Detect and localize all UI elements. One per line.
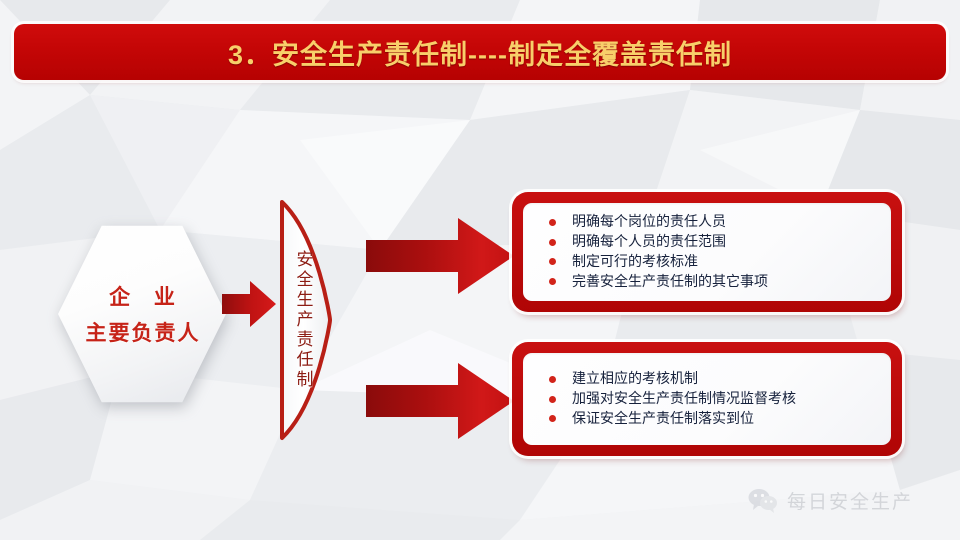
list-item-label: 保证安全生产责任制落实到位 <box>572 409 754 429</box>
list-item: 明确每个人员的责任范围 <box>549 232 881 252</box>
list-item-label: 明确每个岗位的责任人员 <box>572 212 726 232</box>
arrow-right-icon-top <box>366 216 514 296</box>
bullet-dot-icon <box>549 396 556 403</box>
list-item-label: 加强对安全生产责任制情况监督考核 <box>572 389 796 409</box>
lens-label: 安全生产责任制 <box>295 250 312 390</box>
bullet-dot-icon <box>549 278 556 285</box>
bullet-dot-icon <box>549 219 556 226</box>
list-item: 加强对安全生产责任制情况监督考核 <box>549 389 881 409</box>
wechat-icon <box>748 488 778 513</box>
list-item: 保证安全生产责任制落实到位 <box>549 409 881 429</box>
hexagon-label-line1: 企 业 <box>100 281 184 311</box>
bullet-dot-icon <box>549 376 556 383</box>
arrow-right-icon-small <box>222 279 276 329</box>
hexagon-label-group: 企 业 主要负责人 <box>58 224 226 404</box>
list-item: 明确每个岗位的责任人员 <box>549 212 881 232</box>
lens-label-wrapper: 安全生产责任制 <box>274 198 332 442</box>
list-item: 建立相应的考核机制 <box>549 369 881 389</box>
bullet-dot-icon <box>549 258 556 265</box>
hexagon-label-line2: 主要负责人 <box>84 317 201 347</box>
list-item-label: 建立相应的考核机制 <box>572 369 698 389</box>
panel-inner-top: 明确每个岗位的责任人员 明确每个人员的责任范围 制定可行的考核标准 完善安全生产… <box>523 203 891 301</box>
slide-title-bar: 3．安全生产责任制----制定全覆盖责任制 <box>14 24 946 80</box>
list-item-label: 完善安全生产责任制的其它事项 <box>572 272 768 292</box>
bullet-dot-icon <box>549 239 556 246</box>
arrow-right-icon-bottom <box>366 361 514 441</box>
list-item-label: 制定可行的考核标准 <box>572 252 698 272</box>
panel-responsibility-definition: 明确每个岗位的责任人员 明确每个人员的责任范围 制定可行的考核标准 完善安全生产… <box>512 192 902 312</box>
hexagon-node-company-leader: 企 业 主要负责人 <box>58 224 226 404</box>
watermark: 每日安全生产 <box>748 487 913 514</box>
slide-canvas: 3．安全生产责任制----制定全覆盖责任制 企 业 主要负责人 <box>0 0 960 540</box>
panel-responsibility-assessment: 建立相应的考核机制 加强对安全生产责任制情况监督考核 保证安全生产责任制落实到位 <box>512 342 902 456</box>
list-item-label: 明确每个人员的责任范围 <box>572 232 726 252</box>
page-title: 3．安全生产责任制----制定全覆盖责任制 <box>228 33 732 72</box>
list-item: 完善安全生产责任制的其它事项 <box>549 272 881 292</box>
bullet-dot-icon <box>549 415 556 422</box>
watermark-label: 每日安全生产 <box>787 487 913 514</box>
panel-inner-bottom: 建立相应的考核机制 加强对安全生产责任制情况监督考核 保证安全生产责任制落实到位 <box>523 353 891 445</box>
list-item: 制定可行的考核标准 <box>549 252 881 272</box>
